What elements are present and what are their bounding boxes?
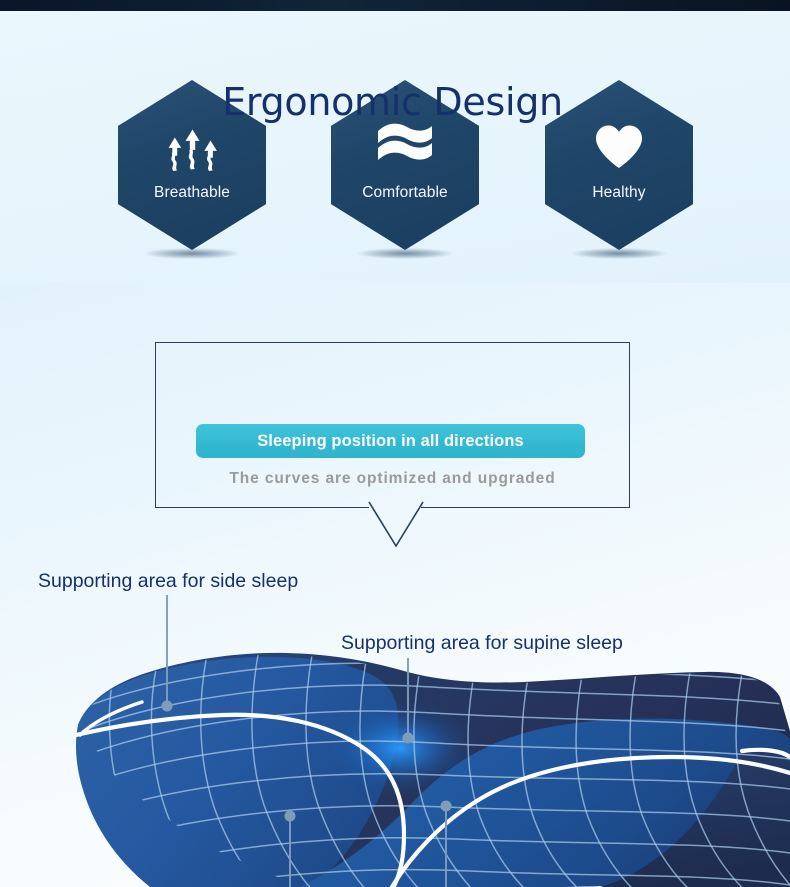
leader-dot-side-sleep	[162, 701, 171, 710]
page-subtitle: The curves are optimized and upgraded	[155, 470, 630, 488]
top-banner-bar	[0, 0, 790, 11]
leader-dot-supine-sleep	[403, 733, 412, 742]
annotation-supine-sleep: Supporting area for supine sleep	[341, 632, 623, 655]
comfortable-fabric-icon	[331, 118, 479, 176]
feature-label: Breathable	[118, 184, 266, 202]
feature-label: Comfortable	[331, 184, 479, 202]
features-section: Breathable Comfortable	[0, 11, 790, 283]
status-badge: Sleeping position in all directions	[196, 424, 585, 458]
page-title: Ergonomic Design	[155, 80, 630, 124]
leader-dot-lower-right	[441, 801, 450, 810]
product-infographic-page: Breathable Comfortable	[0, 0, 790, 887]
status-badge-label: Sleeping position in all directions	[257, 432, 524, 451]
feature-label: Healthy	[545, 184, 693, 202]
healthy-heart-icon	[545, 118, 693, 176]
breathable-arrows-icon	[118, 118, 266, 176]
leader-dot-lower-left	[285, 811, 294, 820]
annotation-side-sleep: Supporting area for side sleep	[38, 570, 298, 593]
